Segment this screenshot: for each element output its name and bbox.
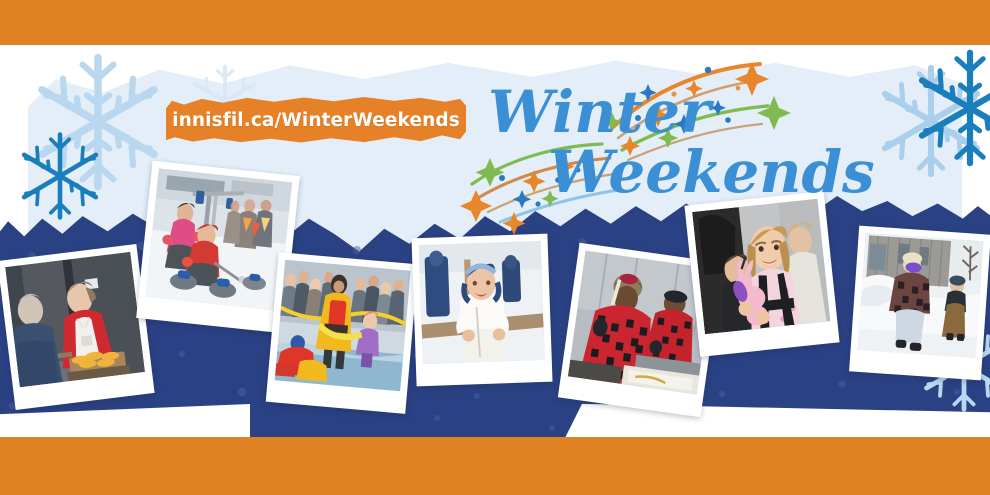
photo-winter-walk (858, 233, 984, 358)
photo-card-polar-plunge[interactable] (266, 252, 419, 414)
photo-food-vendor (5, 252, 145, 387)
photo-card-winter-walk[interactable] (849, 226, 990, 381)
photo-curling (145, 168, 292, 310)
photo-card-food-vendor[interactable] (0, 244, 155, 410)
photo-card-child-snowsuit[interactable] (411, 234, 552, 387)
winter-weekends-banner: innisfil.ca/WinterWeekends (0, 0, 990, 495)
url-brush-banner[interactable]: innisfil.ca/WinterWeekends (166, 96, 466, 144)
logo-wordmark: Winter Weekends (488, 78, 875, 206)
logo-line-winter: Winter (488, 78, 715, 146)
url-label: innisfil.ca/WinterWeekends (166, 96, 466, 144)
logo-line-weekends: Weekends (548, 138, 875, 206)
winter-weekends-logo: Winter Weekends (462, 62, 832, 222)
photo-polar-plunge (275, 260, 411, 392)
photo-child-snowsuit (419, 241, 545, 364)
top-orange-bar (0, 0, 990, 45)
bottom-orange-bar (0, 437, 990, 495)
